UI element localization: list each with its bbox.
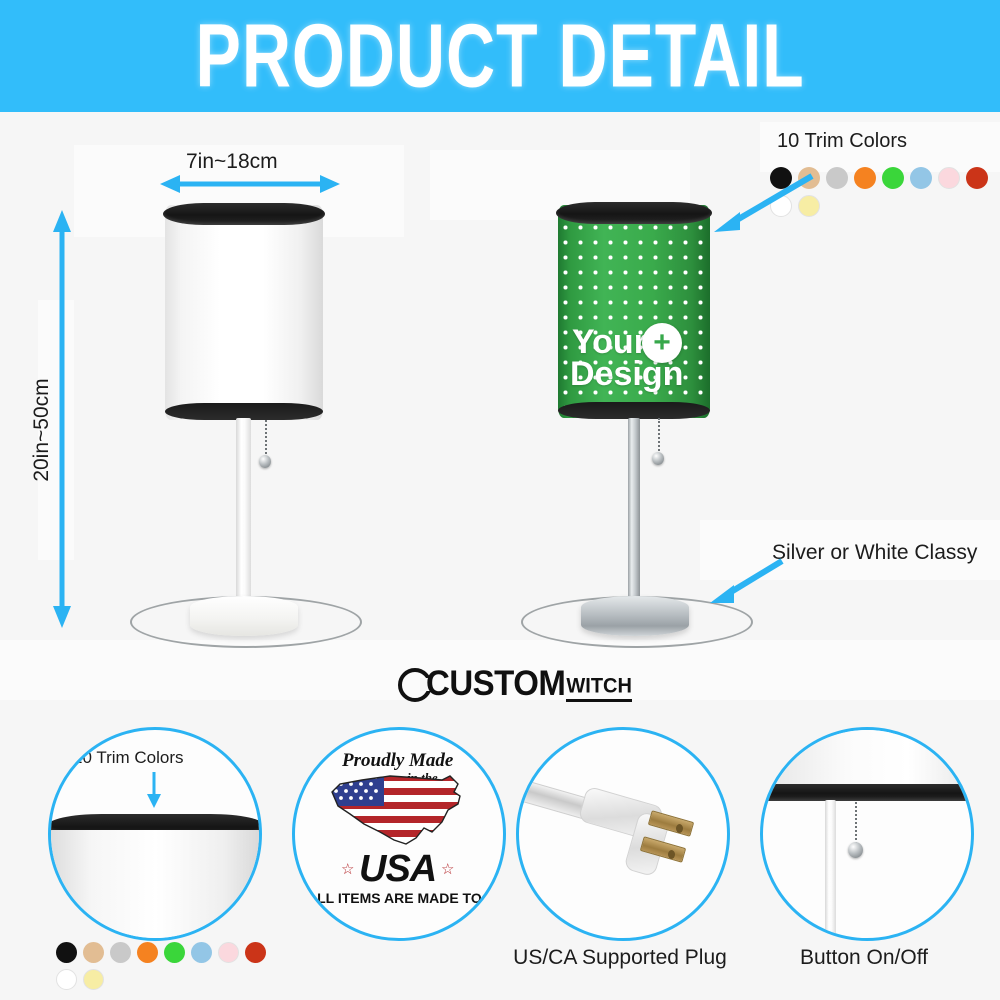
- switch-shade-surface: [763, 730, 971, 788]
- switch-lamp-pole: [825, 800, 836, 940]
- base-finish-label: Silver or White Classy: [772, 541, 977, 565]
- usa-map-flag-icon: [320, 766, 480, 856]
- logo-witch-block: WITCH: [566, 675, 632, 702]
- logo-word-witch: WITCH: [566, 674, 632, 698]
- trim-colors-down-arrow: [144, 772, 164, 808]
- trim-color-swatch-green[interactable]: [164, 942, 185, 963]
- trim-color-swatch-gray[interactable]: [110, 942, 131, 963]
- trim-color-swatch-tan[interactable]: [83, 942, 104, 963]
- lamp-base: [581, 596, 689, 636]
- trim-color-swatch-pink[interactable]: [218, 942, 239, 963]
- usa-made-to-order-text: ALL ITEMS ARE MADE TO ORDER!: [307, 890, 506, 906]
- trim-color-swatch-orange[interactable]: [137, 942, 158, 963]
- switch-shade-trim: [765, 784, 969, 801]
- trim-color-swatch-green[interactable]: [882, 167, 904, 189]
- trim-colors-label-top: 10 Trim Colors: [777, 130, 907, 153]
- logo-word-custom: CUSTOM: [426, 662, 565, 703]
- shade-trim-top: [556, 202, 712, 224]
- shade-trim-top: [163, 203, 325, 225]
- trim-color-swatches-bottom: [56, 942, 286, 990]
- trim-color-swatch-black[interactable]: [56, 942, 77, 963]
- trim-color-swatch-yellow[interactable]: [83, 969, 104, 990]
- plus-glyph: +: [653, 328, 671, 358]
- card-plug: [516, 727, 730, 941]
- plug-prong-hole-lower: [668, 850, 675, 859]
- usa-star-left: ☆: [341, 860, 354, 878]
- card-made-in-usa: Proudly Made in the: [292, 727, 506, 941]
- trim-color-swatch-white[interactable]: [56, 969, 77, 990]
- pull-chain-bead[interactable]: [259, 455, 271, 468]
- design-lamp-shade: Your Design +: [558, 205, 710, 418]
- trim-color-swatch-gray[interactable]: [826, 167, 848, 189]
- switch-pull-chain-bead[interactable]: [848, 842, 863, 858]
- card-plug-caption: US/CA Supported Plug: [488, 946, 752, 970]
- add-design-plus-icon[interactable]: +: [642, 323, 682, 363]
- header-banner: PRODUCT DETAIL: [0, 0, 1000, 112]
- trim-color-swatch-lightblue[interactable]: [910, 167, 932, 189]
- card-shade-surface: [49, 830, 262, 941]
- trim-colors-pointer-arrow: [700, 168, 820, 238]
- trim-color-swatch-red[interactable]: [966, 167, 988, 189]
- logo-underline: [566, 699, 632, 702]
- product-detail-infographic: PRODUCT DETAIL 7in~18cm 20in~50cm: [0, 0, 1000, 1000]
- page-title: PRODUCT DETAIL: [195, 11, 804, 101]
- trim-color-swatch-pink[interactable]: [938, 167, 960, 189]
- lamp-pole: [628, 418, 640, 603]
- lamp-pole: [236, 418, 251, 603]
- shade-trim-bottom: [558, 402, 710, 419]
- pull-chain-bead[interactable]: [652, 452, 664, 465]
- width-dimension-arrow: [160, 172, 340, 196]
- plug-prong-hole-upper: [676, 824, 683, 833]
- card-trim-colors: 10 Trim Colors: [48, 727, 262, 941]
- height-dimension-label: 20in~50cm: [30, 370, 54, 490]
- card-switch: [760, 727, 974, 941]
- shade-surface: [165, 205, 323, 420]
- width-dimension-label: 7in~18cm: [186, 150, 278, 174]
- card-switch-caption: Button On/Off: [760, 946, 968, 970]
- usa-star-right: ☆: [441, 860, 454, 878]
- white-lamp-shade: [165, 205, 323, 420]
- lamp-base: [190, 596, 298, 636]
- trim-color-swatch-red[interactable]: [245, 942, 266, 963]
- usa-headline: USA: [359, 848, 436, 891]
- trim-color-swatch-lightblue[interactable]: [191, 942, 212, 963]
- base-finish-pointer-arrow: [700, 555, 790, 607]
- brand-logo: CUSTOM WITCH: [398, 664, 632, 702]
- card-trim-colors-label: 10 Trim Colors: [73, 748, 184, 768]
- trim-color-swatch-orange[interactable]: [854, 167, 876, 189]
